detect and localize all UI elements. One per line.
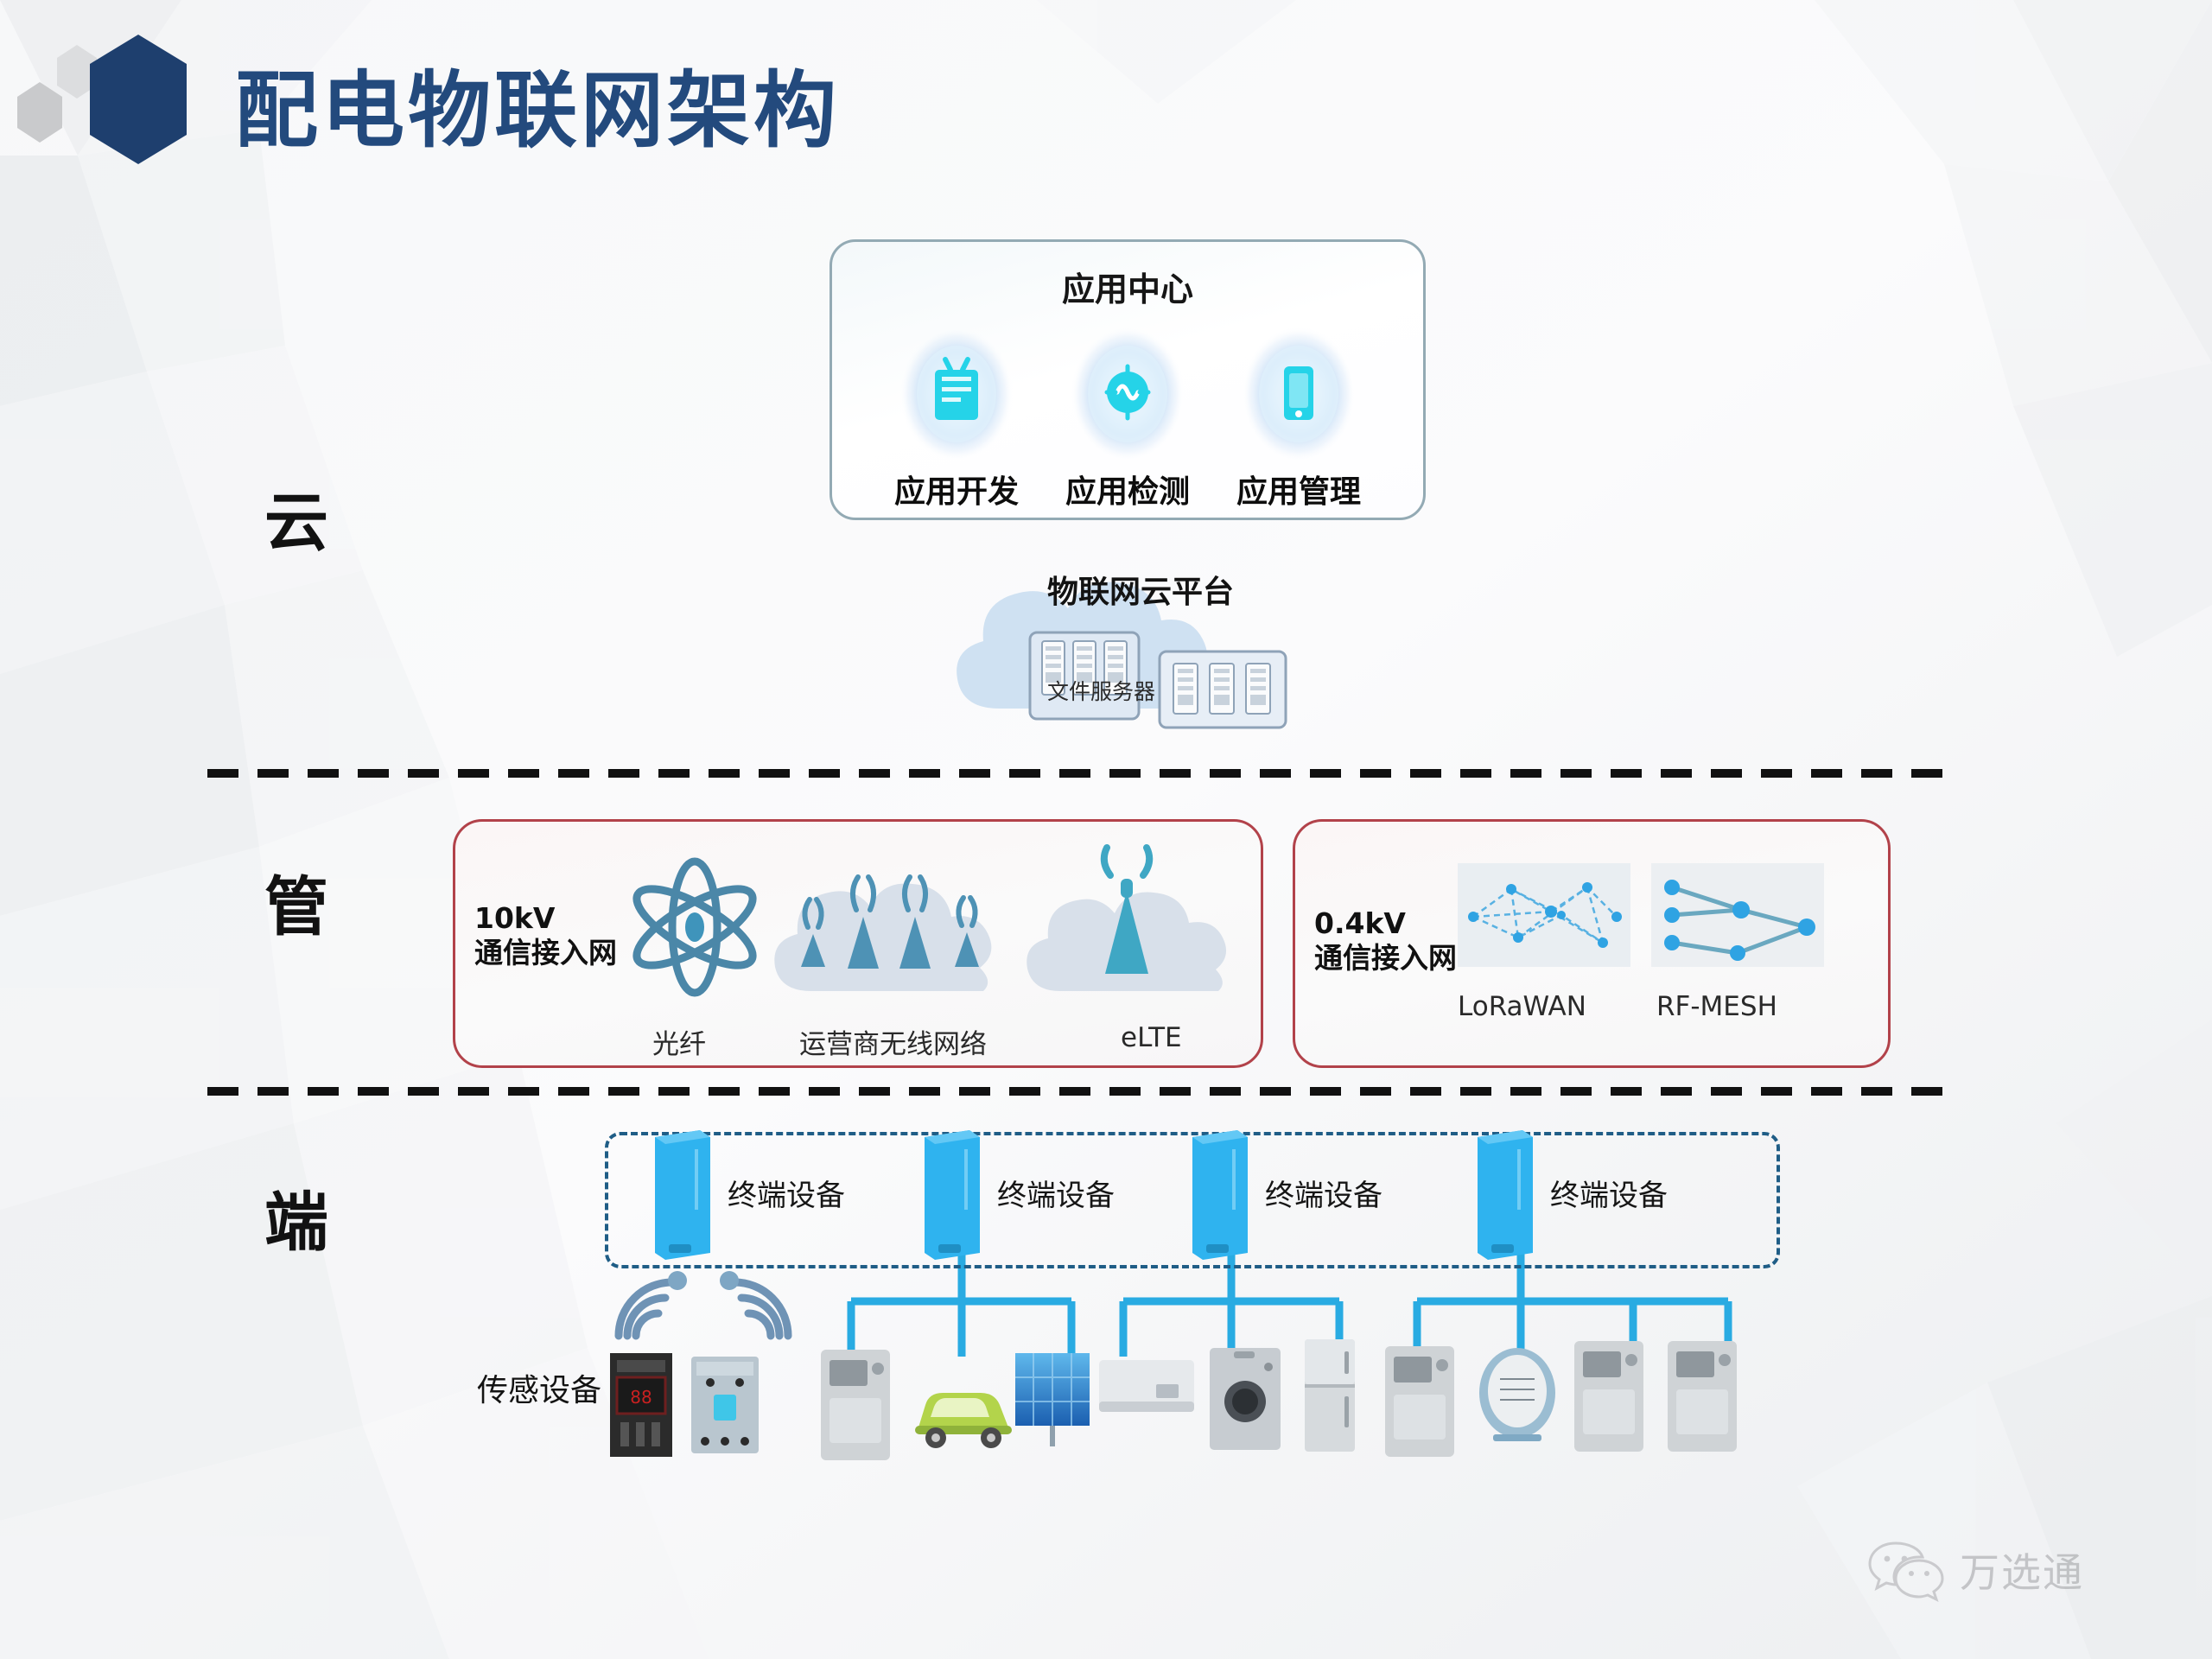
terminal-device-label: 终端设备 (728, 1172, 845, 1214)
iot-cloud-platform-title: 物联网云平台 (942, 567, 1339, 612)
network-item-label-carrier-wireless: 运营商无线网络 (799, 1022, 987, 1061)
watermark: 万选通 (1866, 1538, 2084, 1602)
terminal-device-label: 终端设备 (1265, 1172, 1382, 1214)
layer-label-terminal: 端 (264, 1171, 328, 1263)
electric-meter-icon (1385, 1346, 1454, 1457)
layer-label-cloud: 云 (264, 471, 328, 563)
atom-fiber-icon (621, 849, 768, 1005)
app-item-management[interactable]: 应用管理 (1230, 325, 1368, 512)
compute-server-rack-icon (1158, 650, 1287, 732)
terminal-device-icon (916, 1123, 983, 1262)
electric-meter-icon (821, 1350, 890, 1460)
network-04kv-label: 0.4kV 通信接入网 (1314, 906, 1457, 976)
terminal-device-label: 终端设备 (997, 1172, 1115, 1214)
file-server-rack-icon (1028, 631, 1141, 726)
terminal-unit[interactable]: 终端设备 (1469, 1123, 1668, 1262)
network-access-label: 通信接入网 (1314, 941, 1457, 975)
electric-meter-icon (1668, 1341, 1737, 1452)
network-box-10kv: 10kV 通信接入网 光纤 运营商无线网络 (453, 819, 1263, 1068)
app-testing-icon (1068, 325, 1187, 463)
network-item-label-elte: eLTE (1121, 1022, 1182, 1053)
terminal-device-icon (1184, 1123, 1251, 1262)
app-item-label: 应用开发 (887, 467, 1026, 512)
app-item-testing[interactable]: 应用检测 (1058, 325, 1197, 512)
app-item-development[interactable]: 应用开发 (887, 325, 1026, 512)
terminal-device-icon (646, 1123, 714, 1262)
network-kv-value: 0.4kV (1314, 906, 1406, 940)
application-center-panel: 应用中心 (829, 239, 1426, 520)
analog-gauge-icon (1478, 1348, 1557, 1445)
app-development-icon (897, 325, 1016, 463)
sensor-devices-label: 传感设备 (477, 1365, 601, 1410)
file-server-label: 文件服务器 (1047, 681, 1177, 703)
wireless-wave-left-icon (605, 1268, 700, 1355)
lorawan-mesh-icon (1458, 863, 1630, 967)
rf-mesh-icon (1651, 863, 1824, 967)
refrigerator-icon (1305, 1339, 1355, 1452)
network-item-label-rf-mesh: RF-MESH (1656, 991, 1777, 1022)
application-center-title: 应用中心 (832, 263, 1423, 310)
terminal-device-icon (1469, 1123, 1536, 1262)
network-box-04kv: 0.4kV 通信接入网 LoRaWAN RF-MESH (1293, 819, 1891, 1068)
network-item-label-lorawan: LoRaWAN (1458, 991, 1586, 1022)
app-item-label: 应用管理 (1230, 467, 1368, 512)
electric-meter-icon (1574, 1341, 1643, 1452)
app-management-icon (1239, 325, 1358, 463)
terminal-unit[interactable]: 终端设备 (646, 1123, 845, 1262)
electric-vehicle-icon (912, 1370, 1015, 1450)
divider-pipe-terminal (207, 1087, 1953, 1096)
hexagon-logo (90, 35, 187, 164)
solar-panel-icon (1015, 1353, 1090, 1448)
circuit-breaker-icon (691, 1357, 759, 1453)
network-kv-value: 10kV (474, 901, 555, 935)
wireless-wave-right-icon (707, 1268, 802, 1355)
washing-machine-icon (1210, 1348, 1281, 1450)
divider-cloud-pipe (207, 769, 1953, 778)
terminal-device-label: 终端设备 (1550, 1172, 1668, 1214)
page-header: 配电物联网架构 (0, 0, 2212, 199)
page-title: 配电物联网架构 (235, 43, 840, 163)
network-10kv-label: 10kV 通信接入网 (474, 901, 617, 971)
svg-text:88: 88 (630, 1387, 652, 1408)
air-conditioner-icon (1099, 1360, 1194, 1426)
watermark-text: 万选通 (1960, 1541, 2084, 1599)
terminal-unit[interactable]: 终端设备 (1184, 1123, 1382, 1262)
elte-cloud-icon (1019, 837, 1235, 1010)
network-item-label-fiber: 光纤 (652, 1022, 706, 1061)
protection-relay-icon: 88 (610, 1353, 672, 1457)
iot-cloud-platform: 物联网云平台 文件服务器 (942, 570, 1339, 769)
carrier-wireless-cloud-icon (761, 837, 1029, 1010)
hexagon-small-icon (17, 82, 62, 143)
network-access-label: 通信接入网 (474, 936, 617, 969)
app-item-label: 应用检测 (1058, 467, 1197, 512)
layer-label-pipe: 管 (264, 855, 328, 948)
wechat-icon (1866, 1538, 1946, 1602)
terminal-unit[interactable]: 终端设备 (916, 1123, 1115, 1262)
